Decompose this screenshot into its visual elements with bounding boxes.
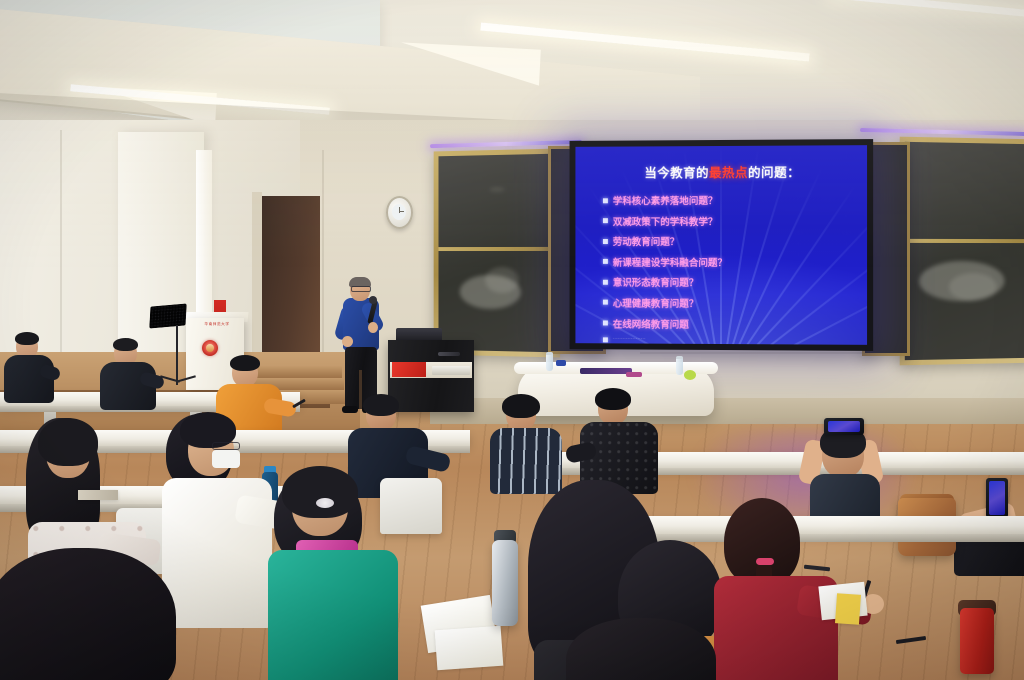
eyeglasses-icon	[212, 442, 240, 450]
presenter-hand-left	[342, 336, 353, 347]
ceiling-light-wedge	[399, 42, 541, 85]
slide-title: 当今教育的最热点的问题：	[591, 161, 855, 181]
phone-screen	[989, 481, 1005, 515]
door-frame	[252, 192, 262, 360]
note-paper	[435, 626, 504, 671]
slide-bullet-item: 劳动教育问题？	[603, 234, 855, 248]
university-emblem-core	[206, 344, 214, 352]
desk-object-dark	[580, 368, 632, 374]
slide-title-suffix: 的问题：	[748, 166, 800, 180]
bullet-square-icon	[603, 218, 608, 223]
slide-bullet-text: 新课程建设学科融合问题？	[613, 255, 727, 269]
desk-object-blue	[556, 360, 566, 366]
presenter-shoe	[342, 406, 358, 413]
slide-bullet-item: 学科核心素养落地问题？	[603, 193, 855, 208]
person-hair	[363, 394, 399, 416]
slide-bullet-item: 新课程建设学科融合问题？	[603, 255, 855, 269]
person-long-hair	[0, 548, 176, 680]
clock-hand-minute	[399, 211, 404, 212]
presenter-leg-gap	[359, 370, 362, 409]
led-screen: 当今教育的最热点的问题： 学科核心素养落地问题？ 双减政策下的学科教学？ 劳动教…	[570, 139, 874, 351]
person-torso	[268, 550, 398, 680]
stage-step	[256, 366, 342, 378]
slide-bullet-text: 在线网络教育问题	[613, 316, 689, 330]
wall-seam	[60, 130, 62, 380]
chalk-marks	[485, 267, 519, 293]
slide-bullet-text: 意识形态教育问题？	[613, 275, 699, 289]
red-bag	[392, 362, 426, 377]
slide-bullet-text: 劳动教育问题？	[613, 234, 679, 248]
phone-screen	[828, 421, 860, 432]
doorway	[258, 196, 320, 356]
person-torso	[490, 428, 562, 494]
blackboard-divider	[438, 247, 555, 251]
bullet-square-icon	[603, 239, 608, 244]
lecture-hall-photo: 当今教育的最热点的问题： 学科核心素养落地问题？ 双减政策下的学科教学？ 劳动教…	[0, 0, 1024, 680]
desk-object-green	[684, 370, 696, 380]
slide-bullet-text: 心理健康教育问题？	[613, 296, 699, 310]
person-hair	[113, 338, 138, 351]
bench-edge	[640, 534, 1024, 542]
red-thermos-flask	[960, 608, 994, 674]
wall-seam	[322, 150, 324, 360]
slide-bullet-item: 在线网络教育问题	[603, 316, 855, 331]
person-hair	[595, 388, 631, 410]
sticky-note	[835, 593, 861, 625]
led-screen-surface: 当今教育的最热点的问题： 学科核心素养落地问题？ 双减政策下的学科教学？ 劳动教…	[575, 145, 867, 345]
slide-bullet-item: 意识形态教育问题？	[603, 275, 855, 290]
blackboard-left	[434, 149, 560, 358]
person-hair	[502, 394, 540, 418]
clock-hand-hour	[399, 207, 400, 213]
chair-back	[380, 478, 442, 534]
console-controls	[438, 352, 460, 356]
slide-bullet-item: ····················	[603, 337, 855, 344]
bullet-square-icon	[603, 259, 608, 264]
person-hair-top	[38, 418, 98, 466]
slide-bullet-text: ····················	[613, 337, 646, 343]
blackboard-surface	[905, 142, 1024, 360]
ceiling-light-strip	[830, 0, 1024, 20]
music-stand-head	[149, 303, 186, 328]
presentation-slide: 当今教育的最热点的问题： 学科核心素养落地问题？ 双减政策下的学科教学？ 劳动教…	[575, 145, 867, 345]
slide-title-prefix: 当今教育的	[644, 166, 709, 180]
desk-object	[78, 490, 118, 500]
slide-bullet-item: 心理健康教育问题？	[603, 296, 855, 311]
person-hair	[15, 332, 39, 345]
slide-title-highlight: 最热点	[709, 166, 748, 180]
bullet-square-icon	[603, 300, 608, 305]
desk-object-pink	[626, 372, 642, 377]
lectern-sign-text: 华南师范大学	[196, 322, 238, 327]
slide-bullet-list: 学科核心素养落地问题？ 双减政策下的学科教学？ 劳动教育问题？ 新课程建设学科融…	[591, 193, 855, 344]
hair-tie-icon	[756, 558, 774, 565]
bullet-square-icon	[603, 321, 608, 326]
slide-bullet-text: 学科核心素养落地问题？	[613, 193, 718, 207]
water-bottle	[676, 356, 683, 375]
bullet-square-icon	[603, 337, 608, 342]
blackboard-divider	[905, 239, 1024, 243]
person-hair	[230, 355, 260, 371]
laptop-device	[432, 366, 470, 375]
presenter-hand-right	[368, 322, 378, 333]
hair-clip-icon	[316, 498, 334, 508]
music-stand-pole	[176, 325, 178, 385]
bench-row	[640, 516, 1024, 534]
slide-bullet-text: 双减政策下的学科教学？	[613, 214, 718, 228]
wall-clock-icon	[386, 196, 413, 229]
microphone-head	[369, 296, 377, 304]
water-bottle	[546, 352, 553, 371]
silver-water-bottle	[492, 540, 518, 626]
presenter-glasses-icon	[351, 286, 371, 292]
slide-bullet-item: 双减政策下的学科教学？	[603, 213, 855, 227]
bullet-square-icon	[603, 198, 608, 203]
face-mask-icon	[212, 450, 240, 468]
person-hair-top	[282, 466, 358, 518]
person-torso	[4, 355, 54, 403]
bullet-square-icon	[603, 280, 608, 285]
blackboard-right	[900, 137, 1024, 366]
blackboard-surface	[438, 154, 555, 353]
